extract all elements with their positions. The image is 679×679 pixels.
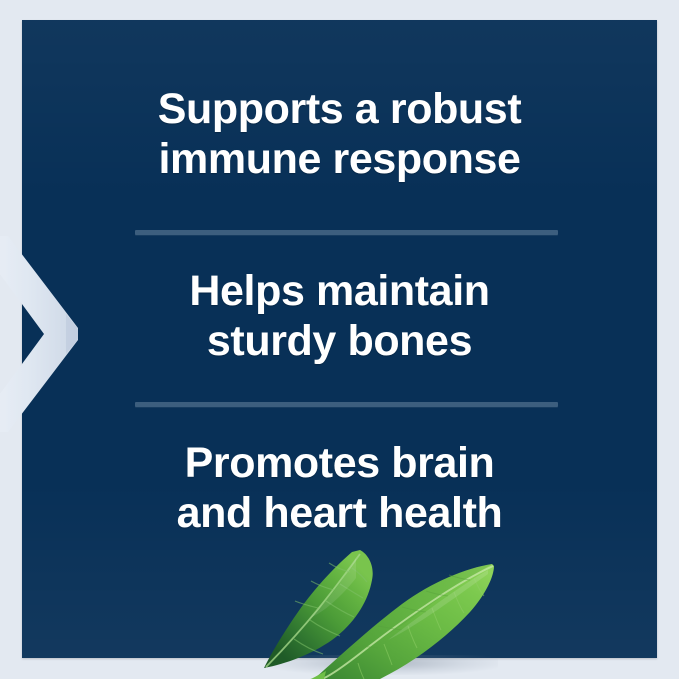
green-leaves-icon — [230, 528, 530, 679]
product-benefits-graphic: Supports a robust immune response Helps … — [0, 0, 679, 679]
benefit-divider-1 — [135, 230, 558, 235]
chevron-right-icon — [0, 236, 92, 432]
benefit-item-bones: Helps maintain sturdy bones — [22, 266, 657, 366]
benefit-item-immune: Supports a robust immune response — [22, 84, 657, 184]
benefit-item-brain-heart: Promotes brain and heart health — [22, 438, 657, 538]
benefit-divider-2 — [135, 402, 558, 407]
